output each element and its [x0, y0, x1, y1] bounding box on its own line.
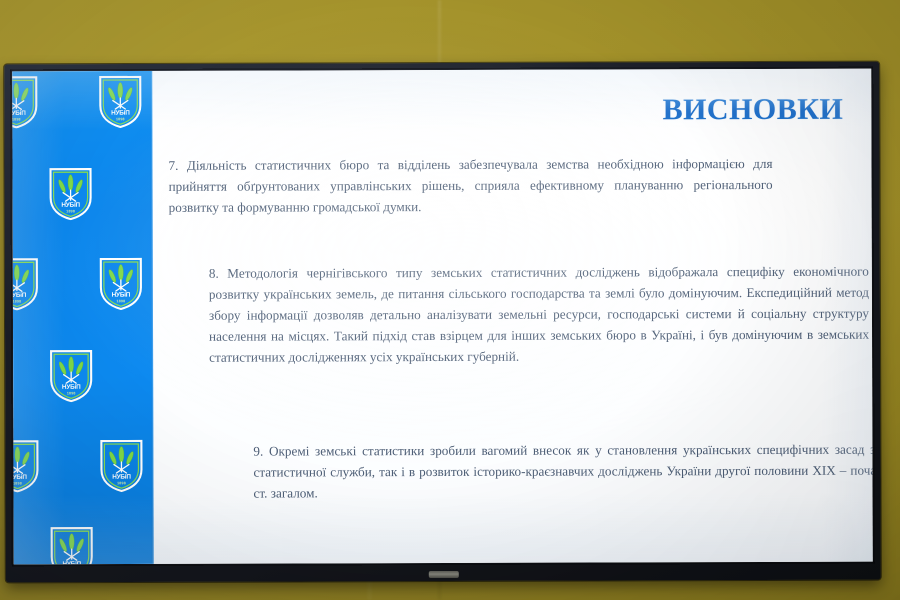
- wall-mounted-display: НУБіП 1898: [4, 62, 881, 583]
- university-crest-icon: НУБіП 1898: [49, 349, 93, 402]
- university-crest-icon: НУБіП 1898: [12, 439, 39, 492]
- conclusion-paragraph-7: 7. Діяльність статистичних бюро та відді…: [168, 153, 772, 218]
- slide-content: ВИСНОВКИ 7. Діяльність статистичних бюро…: [152, 69, 873, 564]
- svg-text:НУБіП: НУБіП: [12, 109, 26, 117]
- svg-text:1898: 1898: [117, 299, 126, 303]
- room-scene: НУБіП 1898: [0, 0, 900, 600]
- university-crest-icon: НУБіП 1898: [12, 75, 38, 128]
- svg-text:НУБіП: НУБіП: [12, 291, 27, 299]
- svg-text:НУБіП: НУБіП: [12, 473, 27, 481]
- university-logo-pattern: НУБіП 1898: [12, 71, 154, 564]
- svg-text:НУБіП: НУБіП: [111, 109, 130, 117]
- university-crest-icon: НУБіП 1898: [98, 75, 142, 128]
- svg-text:НУБіП: НУБіП: [62, 560, 81, 565]
- display-brand-badge: [428, 571, 458, 578]
- slide-title: ВИСНОВКИ: [663, 93, 844, 128]
- display-screen[interactable]: НУБіП 1898: [12, 69, 873, 565]
- university-crest-icon: НУБіП 1898: [49, 167, 93, 220]
- university-crest-icon: НУБіП 1898: [50, 526, 94, 564]
- svg-text:НУБіП: НУБіП: [61, 201, 80, 209]
- svg-text:1898: 1898: [66, 209, 75, 213]
- svg-text:1898: 1898: [12, 118, 21, 122]
- presentation-slide: НУБіП 1898: [12, 69, 873, 565]
- university-crest-icon: НУБіП 1898: [12, 257, 39, 310]
- svg-text:1898: 1898: [13, 300, 22, 304]
- svg-text:1898: 1898: [117, 481, 126, 485]
- svg-text:1898: 1898: [67, 391, 76, 395]
- slide-sidebar: НУБіП 1898: [12, 71, 154, 564]
- svg-text:НУБіП: НУБіП: [112, 291, 131, 299]
- conclusion-paragraph-8: 8. Методологія чернігівського типу земсь…: [209, 261, 869, 368]
- conclusion-paragraph-9: 9. Окремі земські статистики зробили ваг…: [253, 439, 872, 504]
- svg-text:1898: 1898: [13, 482, 22, 486]
- svg-text:НУБіП: НУБіП: [112, 473, 131, 481]
- university-crest-icon: НУБіП 1898: [99, 439, 143, 492]
- svg-text:1898: 1898: [116, 117, 125, 121]
- svg-text:НУБіП: НУБіП: [62, 383, 81, 391]
- university-crest-icon: НУБіП 1898: [99, 257, 143, 310]
